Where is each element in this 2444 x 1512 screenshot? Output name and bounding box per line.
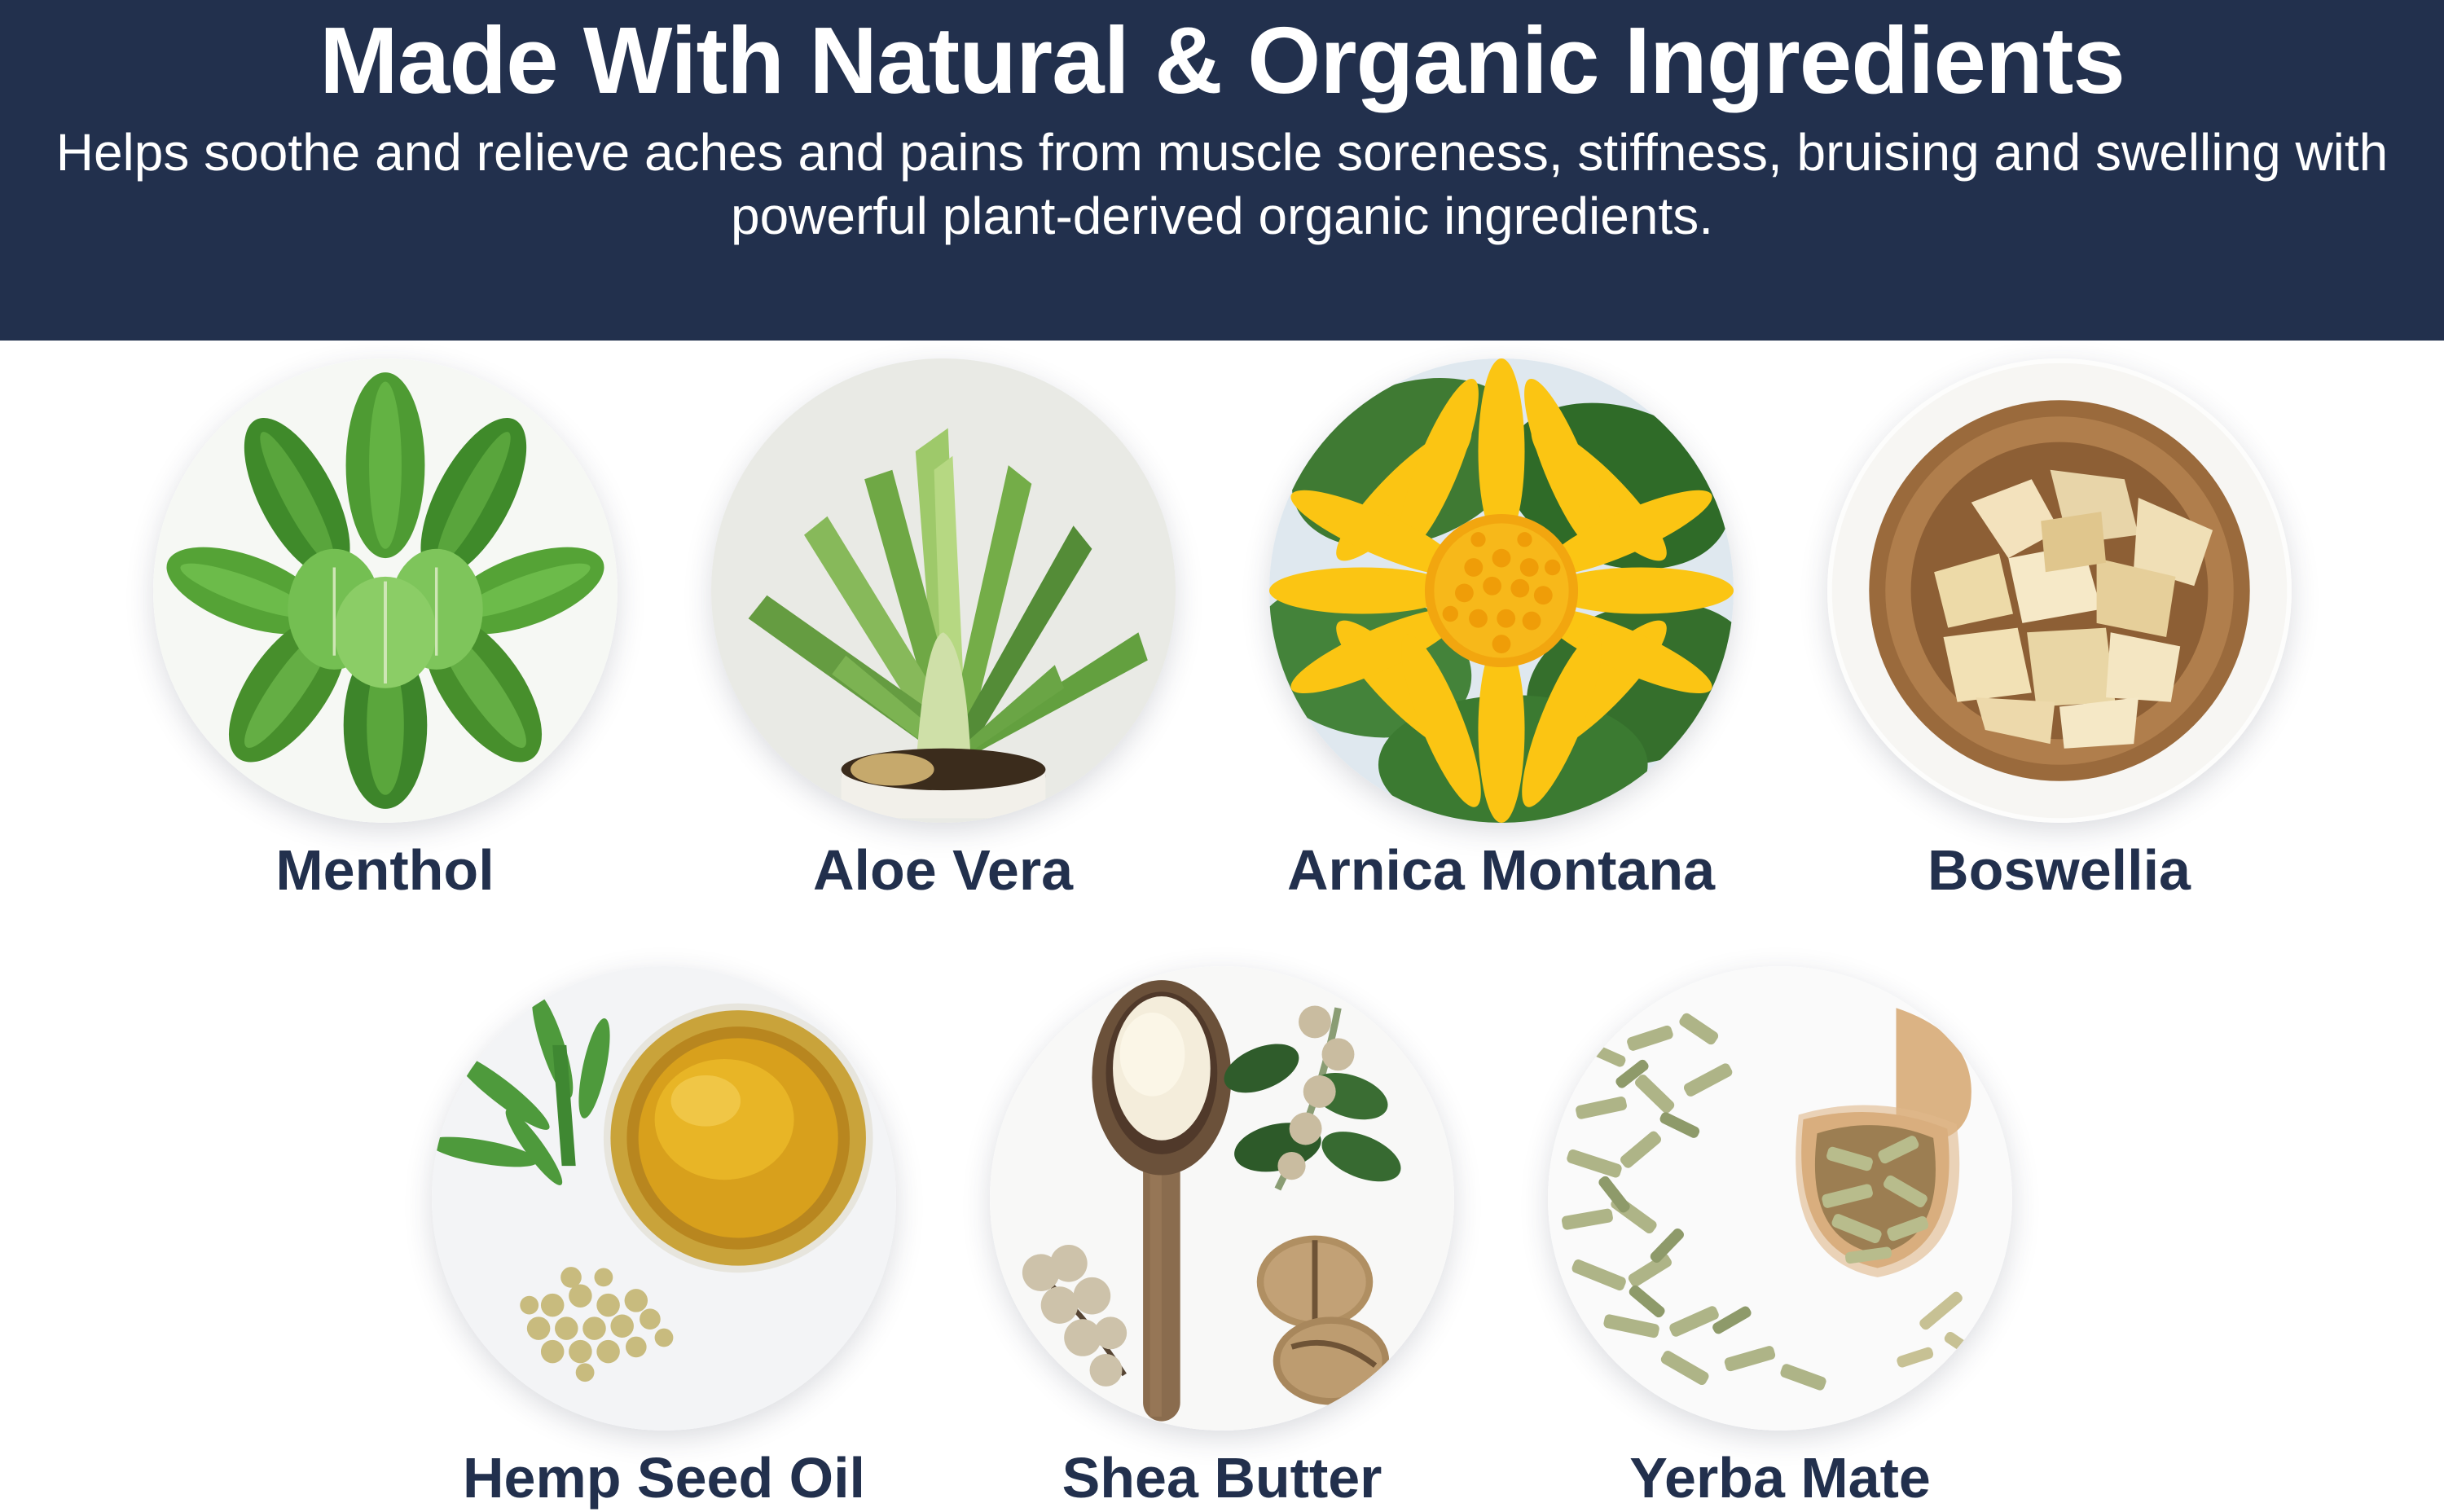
- yerba-mate-image-wrap: [1548, 966, 2012, 1431]
- boswellia-image-wrap: [1827, 358, 2292, 823]
- mint-leaves-icon: [153, 358, 618, 823]
- ingredient-label-menthol: Menthol: [275, 839, 494, 902]
- aloe-vera-image-wrap: [711, 358, 1176, 823]
- ingredient-item-arnica-montana[interactable]: Arnica Montana: [1267, 358, 1735, 902]
- ingredient-label-yerba-mate: Yerba Mate: [1629, 1447, 1931, 1510]
- yerba-mate-scoop-icon: [1548, 966, 2012, 1431]
- ingredient-item-yerba-mate[interactable]: Yerba Mate: [1546, 966, 2015, 1510]
- ingredient-label-boswellia: Boswellia: [1928, 839, 2191, 902]
- hemp-seed-oil-image-wrap: [432, 966, 896, 1431]
- boswellia-resin-bowl-icon: [1827, 358, 2292, 823]
- arnica-montana-image-wrap: [1269, 358, 1734, 823]
- aloe-vera-plant-icon: [711, 358, 1176, 823]
- ingredients-row-1: Menthol: [0, 358, 2444, 902]
- shea-butter-spoon-icon: [990, 966, 1454, 1431]
- ingredient-label-hemp-seed-oil: Hemp Seed Oil: [463, 1447, 865, 1510]
- page-subtitle: Helps soothe and relieve aches and pains…: [49, 121, 2395, 248]
- menthol-image-wrap: [153, 358, 618, 823]
- header-banner: Made With Natural & Organic Ingredients …: [0, 0, 2444, 341]
- ingredients-infographic: Made With Natural & Organic Ingredients …: [0, 0, 2444, 1512]
- arnica-flower-icon: [1269, 358, 1734, 823]
- ingredient-label-arnica-montana: Arnica Montana: [1287, 839, 1715, 902]
- ingredient-item-menthol[interactable]: Menthol: [151, 358, 619, 902]
- ingredients-grid: Menthol: [0, 341, 2444, 1512]
- ingredient-item-shea-butter[interactable]: Shea Butter: [988, 966, 1457, 1510]
- ingredient-label-shea-butter: Shea Butter: [1062, 1447, 1382, 1510]
- shea-butter-image-wrap: [990, 966, 1454, 1431]
- hemp-oil-bowl-icon: [432, 966, 896, 1431]
- ingredient-label-aloe-vera: Aloe Vera: [813, 839, 1073, 902]
- ingredients-row-2: Hemp Seed Oil: [0, 966, 2444, 1510]
- ingredient-item-boswellia[interactable]: Boswellia: [1825, 358, 2293, 902]
- ingredient-item-aloe-vera[interactable]: Aloe Vera: [709, 358, 1177, 902]
- ingredient-item-hemp-seed-oil[interactable]: Hemp Seed Oil: [430, 966, 899, 1510]
- page-title: Made With Natural & Organic Ingredients: [319, 8, 2125, 114]
